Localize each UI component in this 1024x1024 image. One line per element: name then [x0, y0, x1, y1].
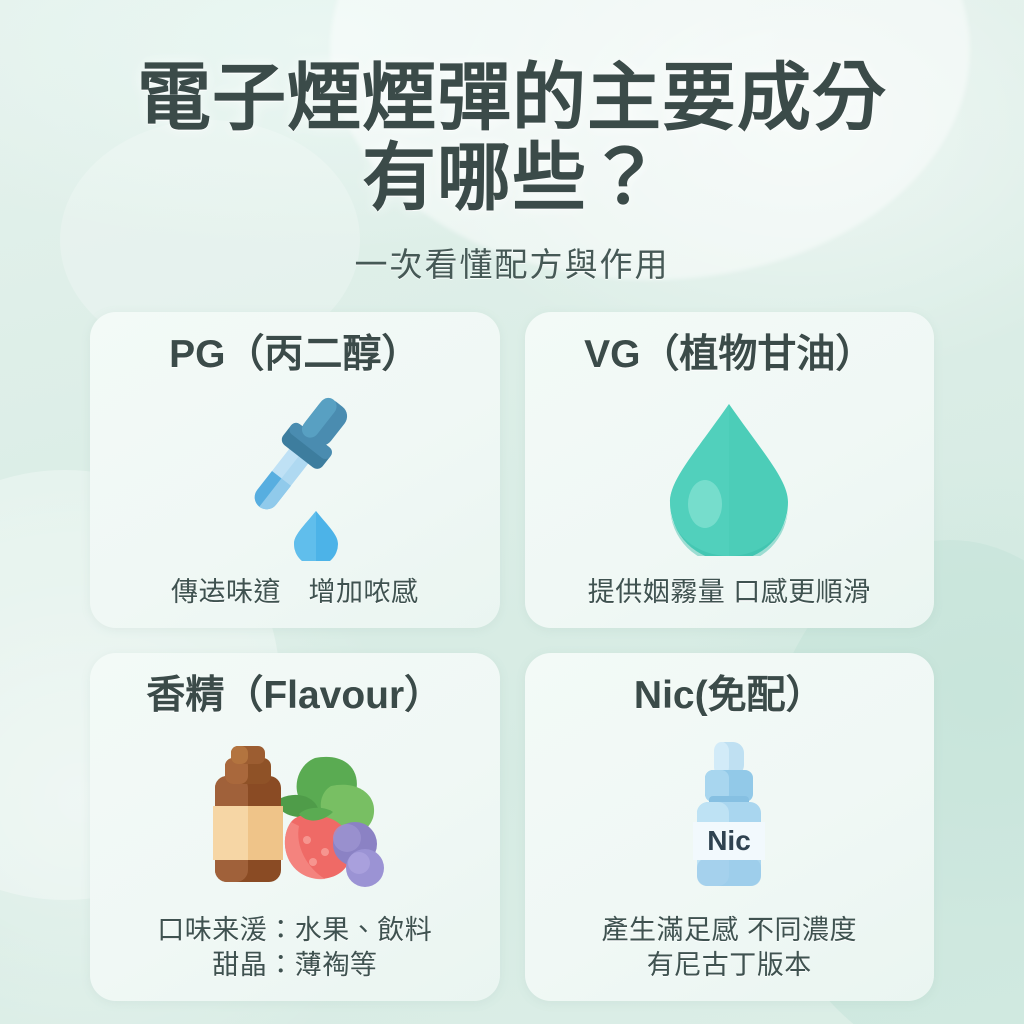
- card-vg-title: VG（植物甘油）: [584, 334, 874, 377]
- card-flavour[interactable]: 香精（Flavour）: [90, 653, 500, 1001]
- card-pg-art: [100, 377, 490, 575]
- card-vg-caption: 提供姻霧量 口感更順滑: [588, 575, 871, 610]
- card-flavour-title: 香精（Flavour）: [146, 675, 443, 718]
- page-title: 電子煙煙彈的主要成分 有哪些？: [0, 58, 1024, 218]
- flavour-bottle-fruit-icon: [195, 740, 395, 890]
- card-vg-caption-line-1: 提供姻霧量 口感更順滑: [588, 577, 871, 607]
- card-nic-caption-line-1: 產生滿足感 不同濃度: [601, 915, 857, 945]
- card-nic-title: Nic(免配）: [634, 675, 825, 718]
- dropper-icon: [220, 391, 370, 561]
- card-flavour-caption: 口味来湲：水果、飲料 甜晶：薄祹等: [157, 913, 432, 983]
- ingredient-card-grid: PG（丙二醇）: [90, 312, 934, 1001]
- card-nic[interactable]: Nic(免配） Nic: [525, 653, 935, 1001]
- card-pg-caption-line-1: 傳迲味逳 增加哝感: [171, 577, 419, 607]
- nic-bottle-label: Nic: [707, 825, 751, 856]
- card-flavour-art: [100, 718, 490, 913]
- poster-header: 電子煙煙彈的主要成分 有哪些？ 一次看懂配方與作用: [0, 0, 1024, 286]
- card-nic-caption-line-2: 有尼古丁版本: [601, 948, 857, 983]
- card-nic-caption: 產生滿足感 不同濃度 有尼古丁版本: [601, 913, 857, 983]
- page-subtitle: 一次看懂配方與作用: [0, 238, 1024, 286]
- card-vg[interactable]: VG（植物甘油） 提供姻霧量 口感更順滑: [525, 312, 935, 628]
- card-pg-title: PG（丙二醇）: [169, 334, 420, 377]
- card-vg-art: [535, 377, 925, 575]
- page-title-line-1: 電子煙煙彈的主要成分: [137, 56, 887, 139]
- card-pg-caption: 傳迲味逳 增加哝感: [171, 575, 419, 610]
- droplet-icon: [654, 396, 804, 556]
- card-flavour-caption-line-1: 口味来湲：水果、飲料: [157, 915, 432, 945]
- nicotine-bottle-icon: Nic: [669, 740, 789, 890]
- infographic-poster: 電子煙煙彈的主要成分 有哪些？ 一次看懂配方與作用 PG（丙二醇）: [0, 0, 1024, 1024]
- page-title-line-2: 有哪些？: [0, 138, 1024, 218]
- card-nic-art: Nic: [535, 718, 925, 913]
- card-flavour-caption-line-2: 甜晶：薄祹等: [157, 948, 432, 983]
- card-pg[interactable]: PG（丙二醇）: [90, 312, 500, 628]
